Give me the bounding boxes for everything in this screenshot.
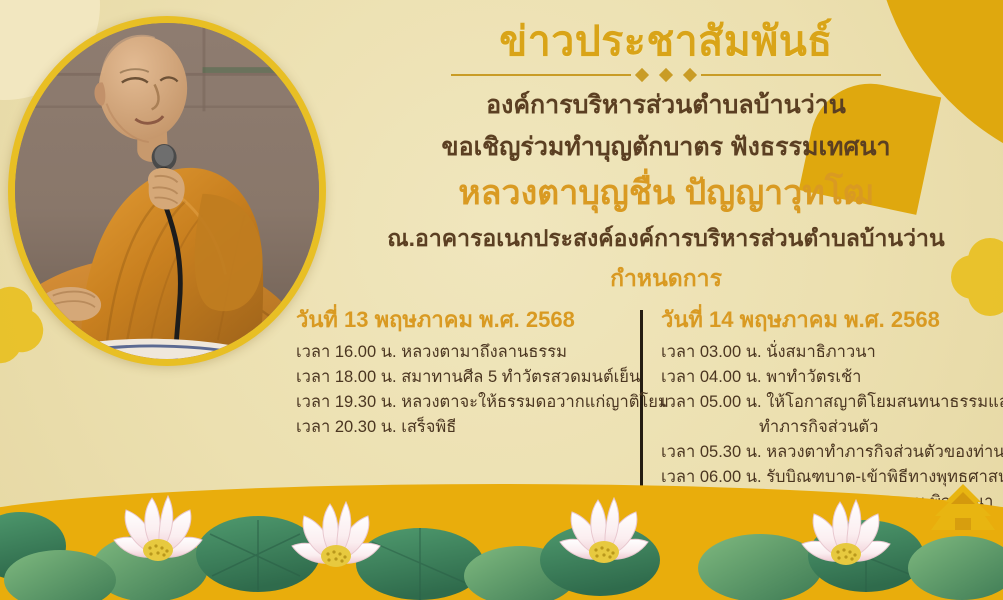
announcement-poster: ข่าวประชาสัมพันธ์ องค์การบริหารส่วนตำบลบ… — [0, 0, 1003, 600]
schedule-item: เวลา 04.00 น. พาทำวัตรเช้า — [661, 365, 991, 390]
schedule-item-continuation: ทำภารกิจส่วนตัว — [661, 415, 991, 440]
schedule-item: เวลา 03.00 น. นั่งสมาธิภาวนา — [661, 340, 991, 365]
lotus-flower-a — [114, 496, 202, 561]
thai-pagoda-ornament-icon — [931, 482, 995, 538]
poster-header: ข่าวประชาสัมพันธ์ องค์การบริหารส่วนตำบลบ… — [336, 18, 996, 297]
schedule-item: เวลา 05.00 น. ให้โอกาสญาติโยมสนทนาธรรมแล… — [661, 390, 991, 440]
invitation-text: ขอเชิญร่วมทำบุญตักบาตร ฟังธรรมเทศนา — [336, 130, 996, 166]
schedule-item: เวลา 19.30 น. หลวงตาจะให้ธรรมดอวากแก่ญาต… — [296, 390, 626, 415]
organization-name: องค์การบริหารส่วนตำบลบ้านว่าน — [336, 88, 996, 124]
schedule-column-day1: วันที่ 13 พฤษภาคม พ.ศ. 2568 เวลา 16.00 น… — [296, 306, 640, 440]
title-row: ข่าวประชาสัมพันธ์ — [336, 18, 996, 65]
venue-text: ณ.อาคารอเนกประสงค์องค์การบริหารส่วนตำบลบ… — [336, 222, 996, 255]
schedule-item: เวลา 05.30 น. หลวงตาทำภารกิจส่วนตัวของท่… — [661, 440, 991, 465]
lotus-illustration — [0, 472, 1003, 600]
monk-portrait-photo — [8, 16, 326, 366]
lotus-flower-c — [560, 498, 648, 563]
quatrefoil-ornament-left-title-icon — [449, 25, 483, 59]
lotus-flower-b — [292, 502, 380, 567]
title-divider-icon — [451, 68, 881, 82]
schedule-item-text: เวลา 05.00 น. ให้โอกาสญาติโยมสนทนาธรรมแล… — [661, 393, 1003, 411]
schedule-item: เวลา 20.30 น. เสร็จพิธี — [296, 415, 626, 440]
schedule-item: เวลา 16.00 น. หลวงตามาถึงลานธรรม — [296, 340, 626, 365]
day-title: วันที่ 13 พฤษภาคม พ.ศ. 2568 — [296, 306, 626, 334]
monk-portrait-illustration — [15, 23, 319, 359]
lotus-flower-d — [802, 500, 890, 565]
monk-name: หลวงตาบุญชื่น ปัญญาวุทโฒ — [336, 173, 996, 214]
page-title: ข่าวประชาสัมพันธ์ — [499, 18, 833, 65]
monk-portrait-image — [15, 23, 319, 359]
schedule-item: เวลา 18.00 น. สมาทานศีล 5 ทำวัตรสวดมนต์เ… — [296, 365, 626, 390]
quatrefoil-ornament-right-title-icon — [849, 25, 883, 59]
agenda-heading: กำหนดการ — [336, 261, 996, 297]
lotus-decoration — [0, 472, 1003, 600]
day-title: วันที่ 14 พฤษภาคม พ.ศ. 2568 — [661, 306, 991, 334]
